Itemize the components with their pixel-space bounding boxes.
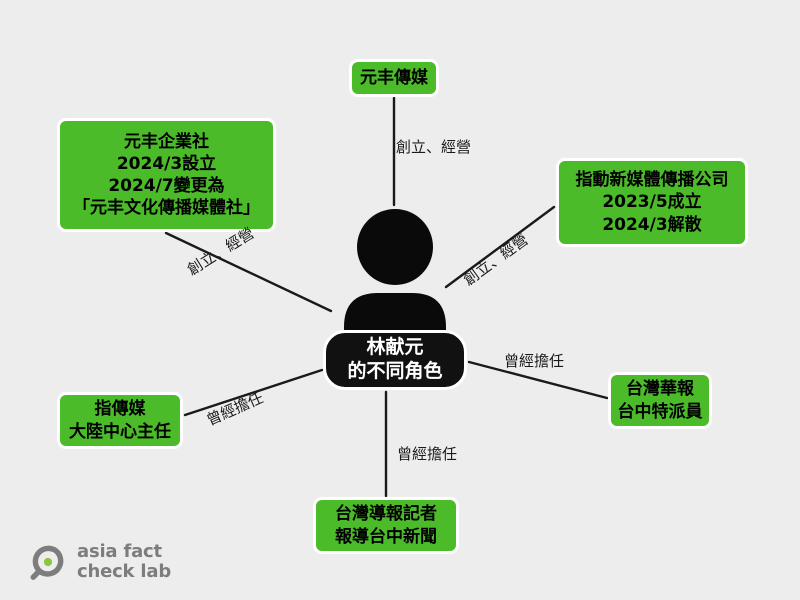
logo-line-1: asia fact: [77, 542, 171, 562]
node-line: 2024/3設立: [117, 153, 216, 175]
node-line: 報導台中新聞: [335, 526, 437, 548]
node-line: 指傳媒: [95, 398, 146, 420]
node-yuanfeng-corp[interactable]: 元丰企業社 2024/3設立 2024/7變更為 「元丰文化傳播媒體社」: [57, 118, 276, 232]
node-taiwan-daobao[interactable]: 台灣導報記者 報導台中新聞: [313, 497, 459, 554]
node-line: 2024/3解散: [602, 214, 701, 236]
node-zhidong-company[interactable]: 指動新媒體傳播公司 2023/5成立 2024/3解散: [556, 158, 748, 247]
center-node-line: 的不同角色: [347, 360, 442, 384]
center-node-line: 林献元: [366, 336, 423, 360]
node-line: 指動新媒體傳播公司: [576, 169, 729, 191]
node-line: 2023/5成立: [602, 191, 701, 213]
node-line: 台灣導報記者: [335, 503, 437, 525]
center-person-node[interactable]: 林献元 的不同角色: [323, 330, 467, 390]
node-line: 2024/7變更為: [108, 175, 224, 197]
node-line: 元丰傳媒: [360, 67, 428, 89]
logo-wordmark: asia fact check lab: [77, 542, 171, 582]
node-line: 元丰企業社: [124, 131, 209, 153]
edge-label-right: 曾經擔任: [504, 350, 564, 371]
diagram-canvas: 元丰傳媒 元丰企業社 2024/3設立 2024/7變更為 「元丰文化傳播媒體社…: [0, 0, 800, 600]
node-zhi-media[interactable]: 指傳媒 大陸中心主任: [57, 392, 183, 449]
node-line: 大陸中心主任: [69, 421, 171, 443]
node-yuanfeng-media[interactable]: 元丰傳媒: [349, 59, 439, 97]
edge-label-top: 創立、經營: [396, 136, 471, 157]
node-line: 「元丰文化傳播媒體社」: [73, 197, 260, 219]
edge-label-bottom: 曾經擔任: [397, 443, 457, 464]
logo-line-2: check lab: [77, 562, 171, 582]
node-line: 台灣華報: [626, 378, 694, 400]
node-taiwan-huabao[interactable]: 台灣華報 台中特派員: [608, 372, 712, 429]
node-line: 台中特派員: [618, 401, 703, 423]
magnifier-icon: [30, 544, 66, 580]
asia-fact-check-lab-logo: asia fact check lab: [30, 542, 171, 582]
